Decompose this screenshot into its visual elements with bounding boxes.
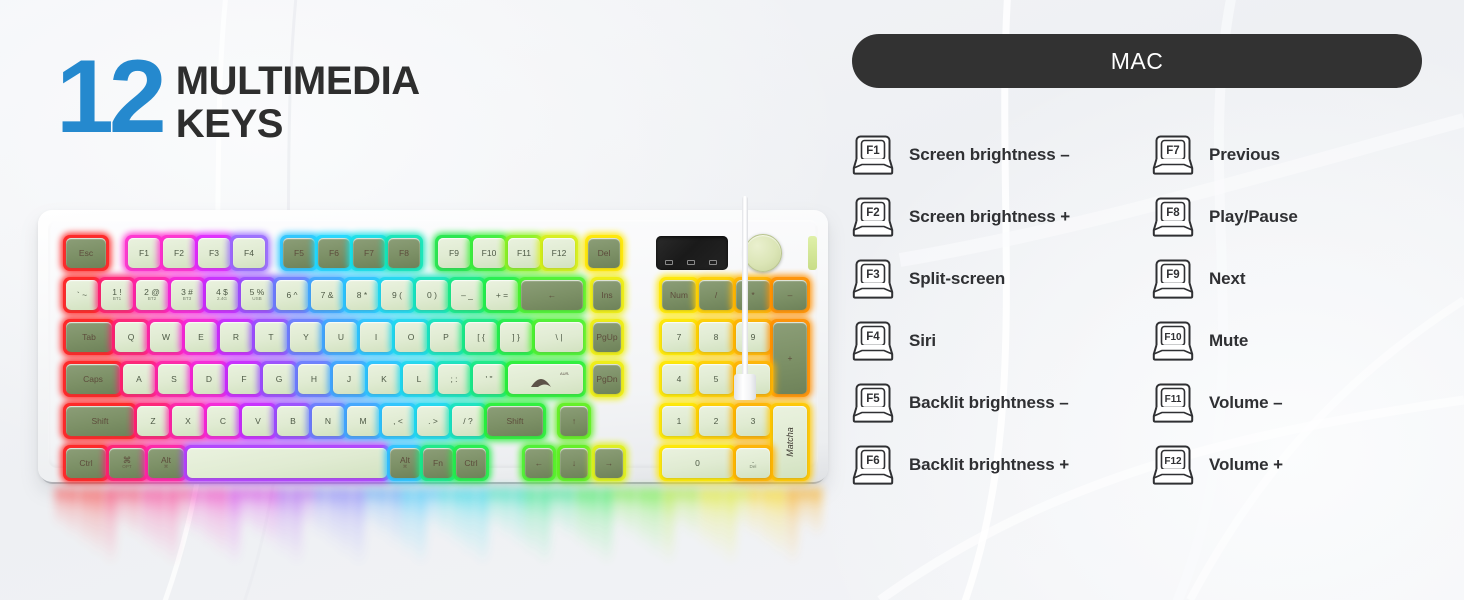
keyboard-key[interactable]: R	[220, 322, 252, 352]
reflection-streak	[515, 488, 524, 556]
function-key-grid: F1Screen brightness –F7PreviousF2Screen …	[852, 124, 1422, 496]
reflection-streak	[329, 488, 338, 556]
keyboard-key[interactable]: B	[277, 406, 309, 436]
svg-text:F7: F7	[1166, 145, 1179, 157]
keyboard-key[interactable]: – _	[451, 280, 483, 310]
keyboard-key[interactable]: F6	[318, 238, 350, 268]
function-key-item-f7: F7Previous	[1152, 124, 1422, 186]
reflection-streak	[564, 488, 573, 545]
keyboard-case: EscF1F2F3F4F5F6F7F8F9F10F11F12Del` ~1 !B…	[38, 210, 828, 482]
svg-text:F12: F12	[1164, 456, 1182, 467]
keycap-icon-f3: F3	[852, 259, 894, 299]
reflection-streak	[800, 488, 809, 534]
keyboard-key[interactable]: + =	[486, 280, 518, 310]
keyboard-key[interactable]: ; :	[438, 364, 470, 394]
shortcut-panel: MAC F1Screen brightness –F7PreviousF2Scr…	[852, 34, 1422, 496]
keyboard-key[interactable]: F11	[508, 238, 540, 268]
function-key-label: Play/Pause	[1209, 207, 1298, 227]
reflection-streak	[180, 488, 189, 534]
svg-text:F11: F11	[1165, 394, 1182, 405]
reflection-streak	[192, 488, 201, 545]
reflection-streak	[168, 488, 177, 578]
keyboard-key[interactable]: V	[242, 406, 274, 436]
keyboard-key[interactable]: F7	[353, 238, 385, 268]
reflection-streak	[81, 488, 90, 556]
reflection-streak	[254, 488, 263, 545]
hero-number: 12	[56, 52, 162, 144]
keyboard-key[interactable]: F12	[543, 238, 575, 268]
keyboard-key[interactable]: T	[255, 322, 287, 352]
keyboard-key[interactable]: Del	[588, 238, 620, 268]
keyboard-key[interactable]: .Del	[736, 448, 770, 478]
keyboard-key[interactable]: Caps	[66, 364, 120, 394]
svg-text:F10: F10	[1164, 332, 1182, 343]
keyboard-key[interactable]: . >	[417, 406, 449, 436]
keyboard-key[interactable]: F9	[438, 238, 470, 268]
keyboard-key[interactable]: F8	[388, 238, 420, 268]
reflection-streak	[490, 488, 499, 534]
keyboard-key[interactable]: L	[403, 364, 435, 394]
keyboard-key[interactable]: / ?	[452, 406, 484, 436]
keyboard-key[interactable]: , <	[382, 406, 414, 436]
keyboard-key[interactable]: Shift	[487, 406, 543, 436]
keyboard-key[interactable]: 1 !BT1	[101, 280, 133, 310]
svg-text:F5: F5	[866, 393, 880, 405]
function-key-label: Split-screen	[909, 269, 1005, 289]
keyboard-key[interactable]: J	[333, 364, 365, 394]
svg-text:F6: F6	[866, 455, 879, 467]
keyboard-key[interactable]: \ |	[535, 322, 583, 352]
keyboard-key[interactable]: 3	[736, 406, 770, 436]
reflection-streak	[639, 488, 648, 556]
keyboard-key[interactable]: F1	[128, 238, 160, 268]
keyboard-key[interactable]: F4	[233, 238, 265, 268]
keycap-icon-f2: F2	[852, 197, 894, 237]
reflection-streak	[93, 488, 102, 567]
reflection-streak	[242, 488, 251, 534]
svg-text:AURA: AURA	[560, 371, 569, 376]
keyboard-key[interactable]: /	[699, 280, 733, 310]
function-key-label: Mute	[1209, 331, 1248, 351]
reflection-streak	[812, 488, 821, 545]
function-key-label: Screen brightness –	[909, 145, 1070, 165]
keyboard-rgb-reflection	[50, 488, 830, 584]
keycap-icon-f7: F7	[1152, 135, 1194, 175]
keyboard-key[interactable]: W	[150, 322, 182, 352]
reflection-streak	[701, 488, 710, 556]
keyboard-key[interactable]: F3	[198, 238, 230, 268]
reflection-streak	[366, 488, 375, 534]
keyboard-key[interactable]: Ins	[593, 280, 621, 310]
function-key-item-f3: F3Split-screen	[852, 248, 1152, 310]
reflection-streak	[155, 488, 164, 567]
keyboard-key[interactable]: +	[773, 322, 807, 394]
keyboard-key[interactable]: K	[368, 364, 400, 394]
keyboard-key[interactable]: 5 %USB	[241, 280, 273, 310]
function-key-item-f4: F4Siri	[852, 310, 1152, 372]
keyboard-key[interactable]: ⌘OPT	[109, 448, 145, 478]
keyboard-key[interactable]: AURA	[508, 364, 583, 394]
keyboard-key[interactable]: G	[263, 364, 295, 394]
reflection-streak	[279, 488, 288, 567]
keyboard-key[interactable]: ↓	[560, 448, 588, 478]
reflection-streak	[292, 488, 301, 578]
reflection-streak	[440, 488, 449, 545]
keyboard-key[interactable]: ` ~	[66, 280, 98, 310]
keyboard-product-image: EscF1F2F3F4F5F6F7F8F9F10F11F12Del` ~1 !B…	[28, 196, 838, 576]
keycap-icon-f12: F12	[1152, 445, 1194, 485]
reflection-streak	[354, 488, 363, 578]
reflection-streak	[118, 488, 127, 534]
svg-text:F9: F9	[1166, 269, 1179, 281]
function-key-label: Next	[1209, 269, 1245, 289]
keyboard-key[interactable]: ←	[525, 448, 553, 478]
keyboard-key[interactable]: Num	[662, 280, 696, 310]
reflection-streak	[676, 488, 685, 534]
keyboard-key[interactable]: 7 &	[311, 280, 343, 310]
keyboard-key[interactable]: →	[595, 448, 623, 478]
reflection-streak	[540, 488, 549, 578]
reflection-streak	[502, 488, 511, 545]
keyboard-key[interactable]: Q	[115, 322, 147, 352]
reflection-streak	[391, 488, 400, 556]
reflection-streak	[552, 488, 561, 534]
usb-cable	[742, 196, 748, 392]
reflection-streak	[304, 488, 313, 534]
keyboard-key[interactable]: 3 #BT3	[171, 280, 203, 310]
keyboard-key[interactable]: F10	[473, 238, 505, 268]
reflection-streak	[56, 488, 65, 534]
keyboard-side-accent	[808, 236, 817, 270]
function-key-item-f10: F10Mute	[1152, 310, 1422, 372]
reflection-streak	[726, 488, 735, 578]
keyboard-key[interactable]: 9 (	[381, 280, 413, 310]
svg-text:F4: F4	[866, 331, 880, 343]
keyboard-key[interactable]: 7	[662, 322, 696, 352]
reflection-streak	[738, 488, 747, 534]
function-key-label: Volume –	[1209, 393, 1283, 413]
keyboard-key[interactable]: [ {	[465, 322, 497, 352]
keyboard-key[interactable]: N	[312, 406, 344, 436]
keyboard-mini-display	[656, 236, 728, 270]
reflection-streak	[428, 488, 437, 534]
keyboard-key[interactable]: O	[395, 322, 427, 352]
keyboard-key[interactable]: –	[773, 280, 807, 310]
function-key-item-f1: F1Screen brightness –	[852, 124, 1152, 186]
mode-icon	[709, 260, 717, 265]
battery-icon	[665, 260, 673, 265]
reflection-streak	[763, 488, 772, 556]
function-key-item-f11: F11Volume –	[1152, 372, 1422, 434]
keyboard-key[interactable]: A	[123, 364, 155, 394]
keyboard-key[interactable]: Ctrl	[66, 448, 106, 478]
keycap-icon-f10: F10	[1152, 321, 1194, 361]
reflection-streak	[106, 488, 115, 578]
keyboard-key[interactable]: ' "	[473, 364, 505, 394]
function-key-label: Volume +	[1209, 455, 1283, 475]
reflection-streak	[403, 488, 412, 567]
hero-words: MULTIMEDIA KEYS	[176, 60, 420, 146]
keycap-icon-f8: F8	[1152, 197, 1194, 237]
keyboard-key[interactable]: E	[185, 322, 217, 352]
reflection-streak	[775, 488, 784, 567]
keyboard-key[interactable]: Tab	[66, 322, 112, 352]
keycap-icon-f1: F1	[852, 135, 894, 175]
keyboard-key[interactable]: Ctrl	[456, 448, 486, 478]
function-key-item-f9: F9Next	[1152, 248, 1422, 310]
keyboard-key[interactable]: 2 @BT2	[136, 280, 168, 310]
reflection-streak	[143, 488, 152, 556]
reflection-streak	[602, 488, 611, 578]
svg-text:F3: F3	[866, 269, 879, 281]
function-key-item-f8: F8Play/Pause	[1152, 186, 1422, 248]
reflection-streak	[453, 488, 462, 556]
reflection-streak	[788, 488, 797, 578]
keyboard-key[interactable]: C	[207, 406, 239, 436]
keyboard-key[interactable]: 4	[662, 364, 696, 394]
svg-text:F8: F8	[1166, 207, 1180, 219]
platform-badge-mac: MAC	[852, 34, 1422, 88]
reflection-streak	[267, 488, 276, 556]
reflection-streak	[614, 488, 623, 534]
keyboard-plate: EscF1F2F3F4F5F6F7F8F9F10F11F12Del` ~1 !B…	[48, 220, 818, 468]
connection-icon	[687, 260, 695, 265]
reflection-streak	[577, 488, 586, 556]
keycap-icon-f11: F11	[1152, 383, 1194, 423]
function-key-label: Previous	[1209, 145, 1280, 165]
keyboard-key[interactable]: ←	[521, 280, 583, 310]
function-key-label: Backlit brightness +	[909, 455, 1069, 475]
reflection-streak	[750, 488, 759, 545]
keycap-icon-f9: F9	[1152, 259, 1194, 299]
keycap-icon-f5: F5	[852, 383, 894, 423]
keyboard-key[interactable]: F2	[163, 238, 195, 268]
keyboard-key[interactable]: Alt⌘	[390, 448, 420, 478]
keyboard-key[interactable]: F	[228, 364, 260, 394]
keyboard-key[interactable]: P	[430, 322, 462, 352]
function-key-item-f2: F2Screen brightness +	[852, 186, 1152, 248]
keyboard-key[interactable]: 2	[699, 406, 733, 436]
reflection-streak	[478, 488, 487, 578]
reflection-streak	[527, 488, 536, 567]
keyboard-key[interactable]: D	[193, 364, 225, 394]
keyboard-key[interactable]: Fn	[423, 448, 453, 478]
reflection-streak	[589, 488, 598, 567]
keyboard-key[interactable]: 0 )	[416, 280, 448, 310]
reflection-streak	[626, 488, 635, 545]
keyboard-key[interactable]: 8 *	[346, 280, 378, 310]
hero-line-2: KEYS	[176, 103, 420, 146]
keyboard-key[interactable]: ↑	[560, 406, 588, 436]
keyboard-key[interactable]: Alt⌘	[148, 448, 184, 478]
keyboard-key[interactable]: S	[158, 364, 190, 394]
keyboard-key[interactable]: Shift	[66, 406, 134, 436]
keyboard-key[interactable]: PgUp	[593, 322, 621, 352]
reflection-streak	[378, 488, 387, 545]
keycap-icon-f4: F4	[852, 321, 894, 361]
svg-text:F2: F2	[866, 207, 879, 219]
keyboard-key[interactable]: PgDn	[593, 364, 621, 394]
keyboard-key[interactable]: U	[325, 322, 357, 352]
hero-heading: 12 MULTIMEDIA KEYS	[56, 52, 420, 146]
keyboard-key[interactable]: 6 ^	[276, 280, 308, 310]
platform-badge-label: MAC	[1111, 48, 1164, 75]
function-key-label: Backlit brightness –	[909, 393, 1069, 413]
reflection-streak	[230, 488, 239, 578]
keyboard-key[interactable]: ] }	[500, 322, 532, 352]
reflection-streak	[217, 488, 226, 567]
keyboard-key[interactable]: 0	[662, 448, 733, 478]
keyboard-key[interactable]: F5	[283, 238, 315, 268]
keyboard-key[interactable]: X	[172, 406, 204, 436]
keyboard-key[interactable]: 8	[699, 322, 733, 352]
reflection-streak	[205, 488, 214, 556]
reflection-streak	[130, 488, 139, 545]
keyboard-key[interactable]: Y	[290, 322, 322, 352]
keyboard-key[interactable]: Z	[137, 406, 169, 436]
keyboard-key[interactable]: Esc	[66, 238, 106, 268]
keyboard-key[interactable]: H	[298, 364, 330, 394]
reflection-streak	[651, 488, 660, 567]
function-key-item-f12: F12Volume +	[1152, 434, 1422, 496]
keyboard-key[interactable]: 1	[662, 406, 696, 436]
keyboard-key[interactable]	[187, 448, 387, 478]
function-key-label: Screen brightness +	[909, 207, 1070, 227]
reflection-streak	[341, 488, 350, 567]
keyboard-key[interactable]: M	[347, 406, 379, 436]
reflection-streak	[465, 488, 474, 567]
reflection-streak	[664, 488, 673, 578]
reflection-streak	[416, 488, 425, 578]
function-key-item-f6: F6Backlit brightness +	[852, 434, 1152, 496]
reflection-streak	[688, 488, 697, 545]
reflection-streak	[316, 488, 325, 545]
function-key-label: Siri	[909, 331, 936, 351]
svg-text:F1: F1	[866, 145, 880, 157]
keycap-icon-f6: F6	[852, 445, 894, 485]
keyboard-key[interactable]: Matcha	[773, 406, 807, 478]
keyboard-key[interactable]: 5	[699, 364, 733, 394]
function-key-item-f5: F5Backlit brightness –	[852, 372, 1152, 434]
usb-plug-connector	[734, 374, 756, 400]
reflection-streak	[713, 488, 722, 567]
volume-knob[interactable]	[744, 234, 782, 272]
hero-line-1: MULTIMEDIA	[176, 60, 420, 103]
reflection-streak	[68, 488, 77, 545]
keyboard-key[interactable]: 4 $2.4G	[206, 280, 238, 310]
keyboard-key[interactable]: I	[360, 322, 392, 352]
